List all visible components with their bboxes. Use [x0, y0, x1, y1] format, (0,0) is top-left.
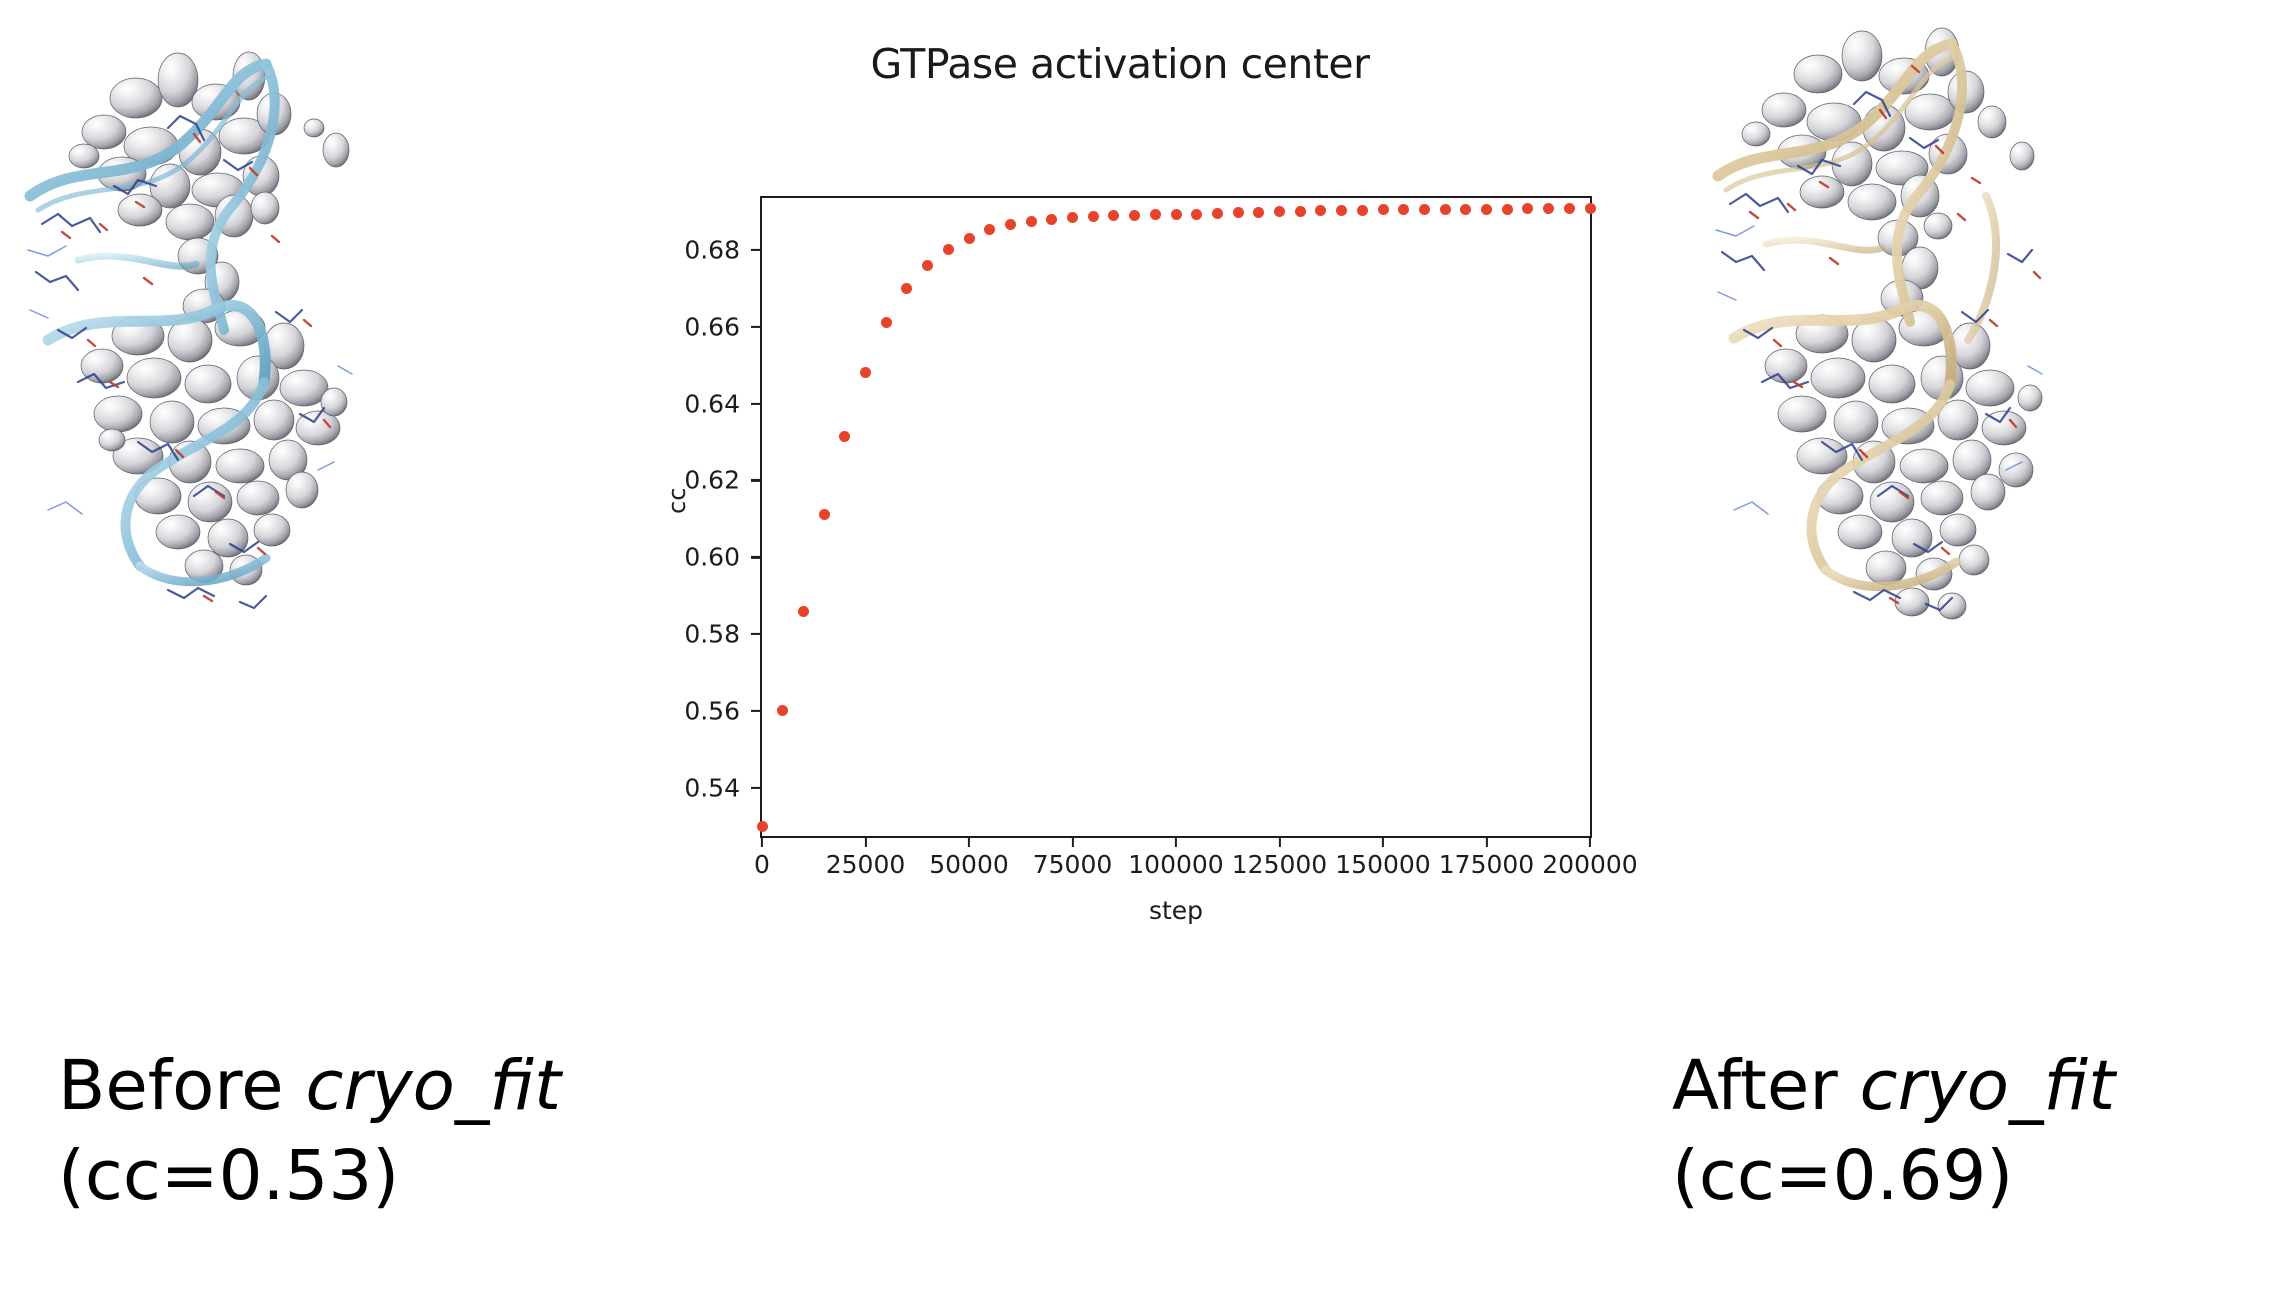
caption-after-line2: (cc=0.69) [1672, 1132, 2115, 1222]
scatter-point [1233, 207, 1244, 218]
caption-before-tool: cryo_fit [306, 1046, 561, 1126]
scatter-point [964, 233, 975, 244]
scatter-point [839, 431, 850, 442]
scatter-point [1419, 204, 1430, 215]
y-tick-mark [751, 249, 762, 251]
y-tick-label: 0.64 [684, 389, 740, 418]
scatter-point [881, 317, 892, 328]
scatter-point [1171, 209, 1182, 220]
scatter-point [1129, 210, 1140, 221]
scatter-point [1046, 214, 1057, 225]
scatter-point [922, 260, 933, 271]
scatter-point [757, 821, 768, 832]
density-blobs-lower [81, 310, 347, 585]
y-tick-mark [751, 326, 762, 328]
molecule-before-svg [18, 10, 448, 650]
scatter-point [1088, 211, 1099, 222]
scatter-point [901, 283, 912, 294]
y-tick-mark [751, 479, 762, 481]
molecule-render-before [18, 10, 448, 650]
scatter-point [1398, 204, 1409, 215]
scatter-point [1253, 207, 1264, 218]
scatter-point [1522, 203, 1533, 214]
scatter-point [1357, 205, 1368, 216]
caption-after-tool: cryo_fit [1860, 1046, 2115, 1126]
chart-container: GTPase activation center cc step 0.540.5… [560, 18, 1680, 938]
y-tick-label: 0.54 [684, 773, 740, 802]
caption-before-line2: (cc=0.53) [58, 1132, 561, 1222]
scatter-point [860, 367, 871, 378]
scatter-point [1067, 212, 1078, 223]
density-blobs-lower [1765, 310, 2042, 619]
caption-before-prefix: Before [58, 1046, 306, 1126]
y-tick-label: 0.60 [684, 543, 740, 572]
x-axis-label: step [760, 896, 1592, 925]
scatter-point [1315, 205, 1326, 216]
scatter-point [1274, 206, 1285, 217]
scatter-point [1440, 204, 1451, 215]
y-tick-mark [751, 403, 762, 405]
x-tick-label: 100000 [1128, 850, 1223, 879]
x-tick-label: 200000 [1542, 850, 1637, 879]
x-tick-mark [1485, 836, 1487, 847]
scatter-point [1026, 216, 1037, 227]
scatter-point [777, 705, 788, 716]
scatter-point [984, 224, 995, 235]
caption-before-line1: Before cryo_fit [58, 1042, 561, 1132]
y-tick-label: 0.66 [684, 312, 740, 341]
scatter-point [1295, 206, 1306, 217]
x-tick-mark [864, 836, 866, 847]
x-tick-mark [968, 836, 970, 847]
scatter-point [1336, 205, 1347, 216]
caption-after-cryofit: After cryo_fit (cc=0.69) [1672, 1042, 2115, 1221]
x-tick-label: 175000 [1439, 850, 1534, 879]
caption-before-cryofit: Before cryo_fit (cc=0.53) [58, 1042, 561, 1221]
scatter-point [1191, 209, 1202, 220]
x-tick-mark [1589, 836, 1591, 847]
x-tick-mark [1278, 836, 1280, 847]
x-tick-label: 25000 [826, 850, 906, 879]
scatter-point [1212, 208, 1223, 219]
x-tick-mark [1175, 836, 1177, 847]
x-tick-label: 150000 [1335, 850, 1430, 879]
y-tick-label: 0.68 [684, 235, 740, 264]
y-tick-label: 0.56 [684, 697, 740, 726]
scatter-point [1564, 203, 1575, 214]
x-tick-mark [1382, 836, 1384, 847]
density-blobs-upper [69, 52, 349, 240]
scatter-point [1543, 203, 1554, 214]
scatter-point [1378, 204, 1389, 215]
y-tick-mark [751, 556, 762, 558]
scatter-point [1005, 219, 1016, 230]
y-tick-mark [751, 710, 762, 712]
scatter-point [943, 244, 954, 255]
x-tick-label: 125000 [1232, 850, 1327, 879]
y-tick-label: 0.58 [684, 620, 740, 649]
x-tick-label: 50000 [929, 850, 1009, 879]
caption-after-line1: After cryo_fit [1672, 1042, 2115, 1132]
x-tick-label: 75000 [1033, 850, 1113, 879]
scatter-point [1108, 210, 1119, 221]
slide-root: GTPase activation center cc step 0.540.5… [0, 0, 2284, 1296]
scatter-point [1481, 204, 1492, 215]
scatter-point [1585, 203, 1596, 214]
scatter-point [1460, 204, 1471, 215]
scatter-point [798, 606, 809, 617]
caption-after-prefix: After [1672, 1046, 1860, 1126]
x-tick-mark [1071, 836, 1073, 847]
chart-title: GTPase activation center [560, 40, 1680, 88]
molecule-render-after [1690, 0, 2140, 680]
x-tick-label: 0 [754, 850, 770, 879]
plot-area: 0.540.560.580.600.620.640.660.68 0250005… [760, 196, 1592, 838]
y-tick-mark [751, 633, 762, 635]
scatter-point [1502, 204, 1513, 215]
molecule-after-svg [1690, 0, 2140, 680]
scatter-point [819, 509, 830, 520]
x-tick-mark [761, 836, 763, 847]
y-tick-label: 0.62 [684, 466, 740, 495]
scatter-point [1150, 209, 1161, 220]
y-tick-mark [751, 787, 762, 789]
